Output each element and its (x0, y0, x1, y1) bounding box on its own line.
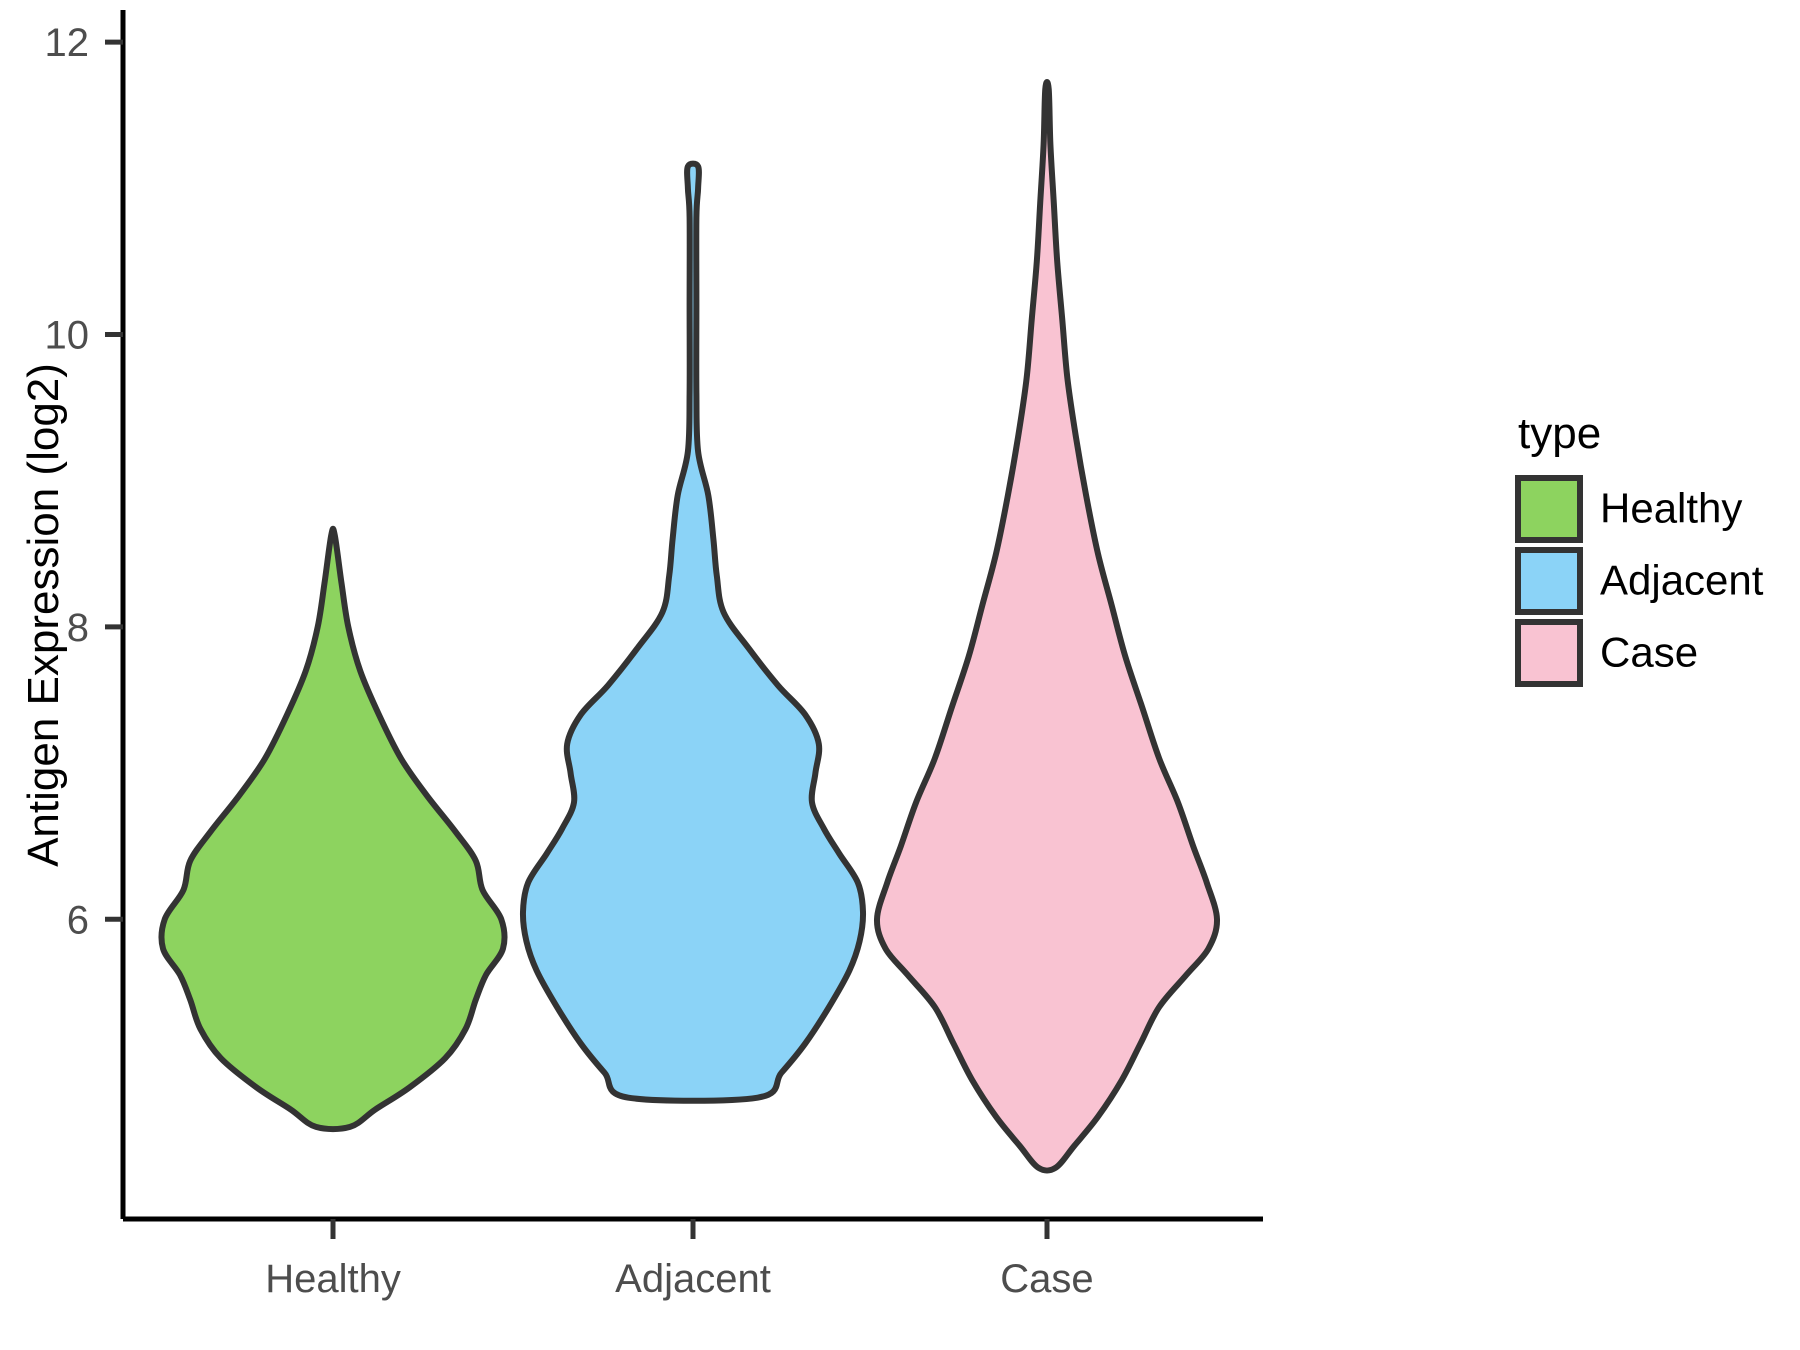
legend-key-healthy[interactable] (1518, 478, 1580, 540)
plot-panel (162, 82, 1217, 1171)
x-axis-ticks: HealthyAdjacentCase (265, 1219, 1094, 1301)
x-tick-label: Adjacent (615, 1257, 771, 1301)
y-tick-label: 6 (67, 898, 89, 942)
y-tick-label: 8 (67, 606, 89, 650)
violin-adjacent (523, 164, 863, 1101)
legend: type HealthyAdjacentCase (1518, 409, 1764, 684)
legend-title: type (1518, 409, 1601, 458)
legend-key-adjacent[interactable] (1518, 550, 1580, 612)
violin-series-group (162, 82, 1217, 1171)
violin-plot-figure: 681012 HealthyAdjacentCase Antigen Expre… (0, 0, 1800, 1350)
y-axis-title: Antigen Expression (log2) (19, 363, 68, 867)
legend-label-case: Case (1600, 629, 1698, 676)
y-tick-label: 10 (45, 314, 90, 358)
violin-healthy (162, 529, 505, 1129)
x-tick-label: Case (1000, 1257, 1093, 1301)
legend-key-case[interactable] (1518, 622, 1580, 684)
violin-case (877, 82, 1217, 1171)
chart-canvas: 681012 HealthyAdjacentCase Antigen Expre… (0, 0, 1800, 1350)
x-tick-label: Healthy (265, 1257, 401, 1301)
legend-items: HealthyAdjacentCase (1518, 478, 1764, 684)
legend-label-adjacent: Adjacent (1600, 557, 1764, 604)
legend-label-healthy: Healthy (1600, 485, 1742, 532)
y-tick-label: 12 (45, 21, 90, 65)
